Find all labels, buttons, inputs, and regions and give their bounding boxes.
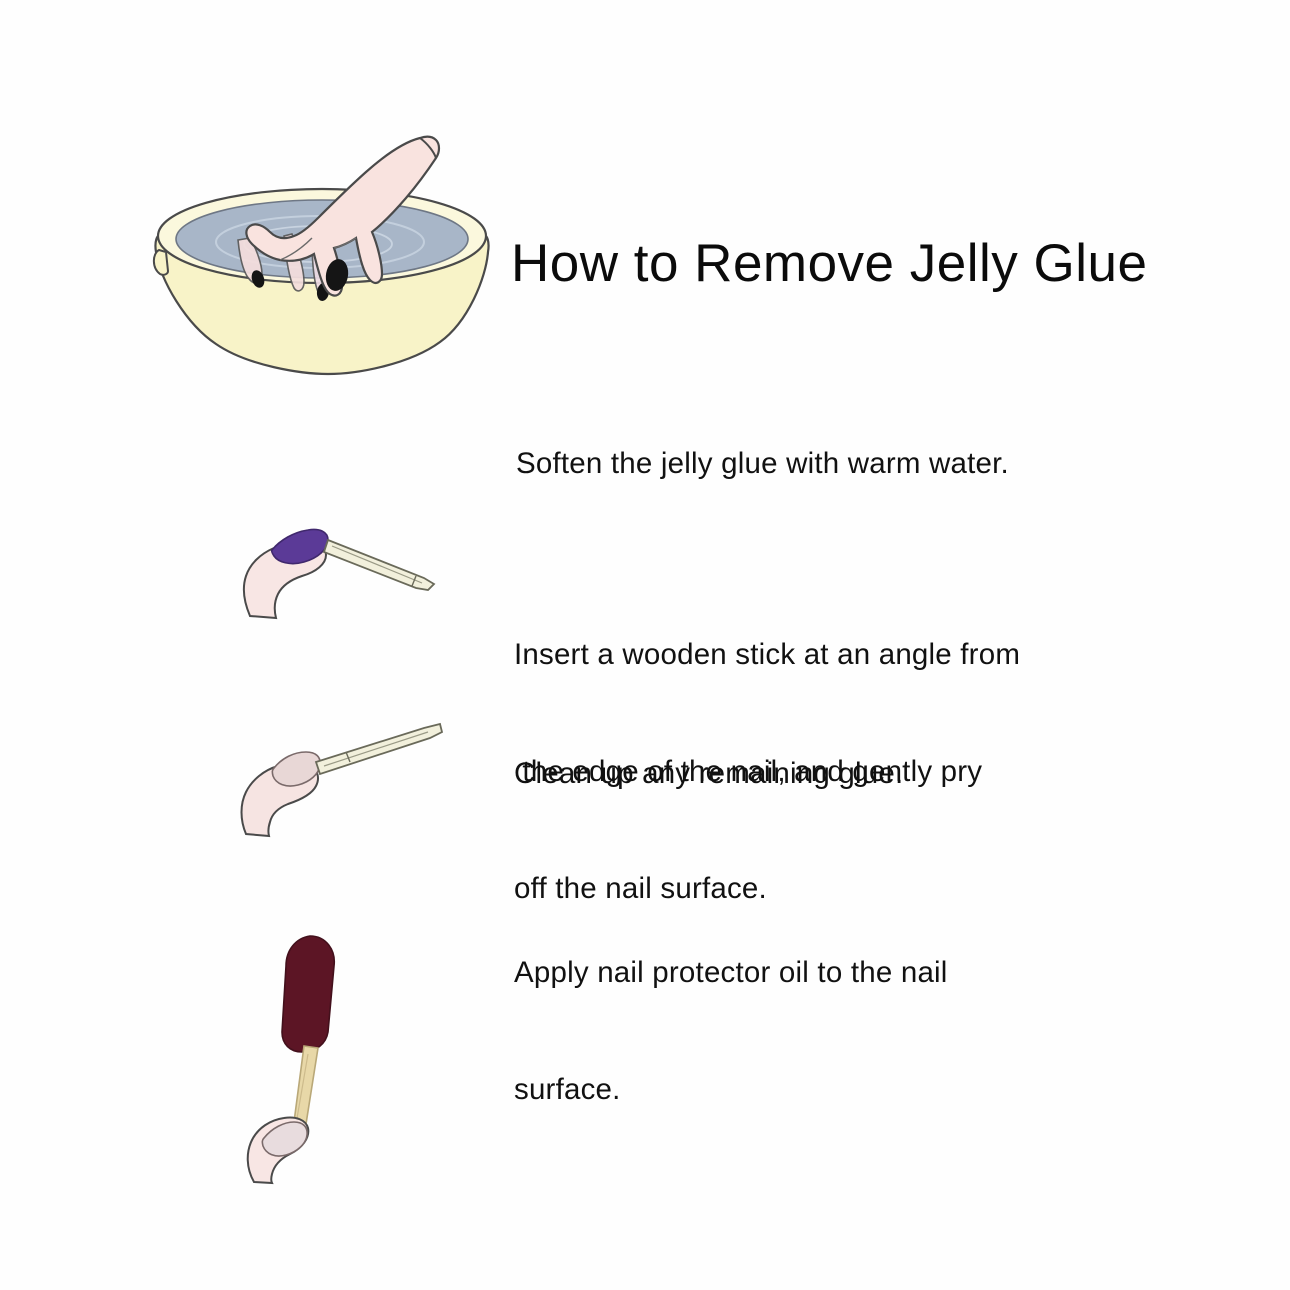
step-text-soften: Soften the jelly glue with warm water. [516, 444, 1009, 483]
step-line: Insert a wooden stick at an angle from [514, 635, 1020, 674]
poster-canvas: How to Remove Jelly Glue Soften the jell… [0, 0, 1290, 1290]
stick-center-line [332, 546, 422, 583]
wooden-stick [316, 724, 442, 774]
hand-in-water-bowl-icon [152, 128, 492, 380]
finger-bare-nail-with-wooden-stick-icon [228, 716, 464, 840]
step-line: Apply nail protector oil to the nail [514, 953, 948, 992]
nail-oil-dropper-bottle-icon [238, 926, 388, 1184]
step-line: surface. [514, 1070, 948, 1109]
finger-purple-nail-with-wooden-stick-icon [228, 502, 464, 626]
bowl-handle [154, 250, 168, 275]
step-text-apply-oil: Apply nail protector oil to the nail sur… [514, 875, 948, 1187]
stick-center-line [324, 732, 428, 766]
step-text-clean-glue: Clean up any remaining glue. [514, 754, 903, 793]
page-title: How to Remove Jelly Glue [511, 236, 1147, 292]
oil-bottle [282, 936, 334, 1052]
